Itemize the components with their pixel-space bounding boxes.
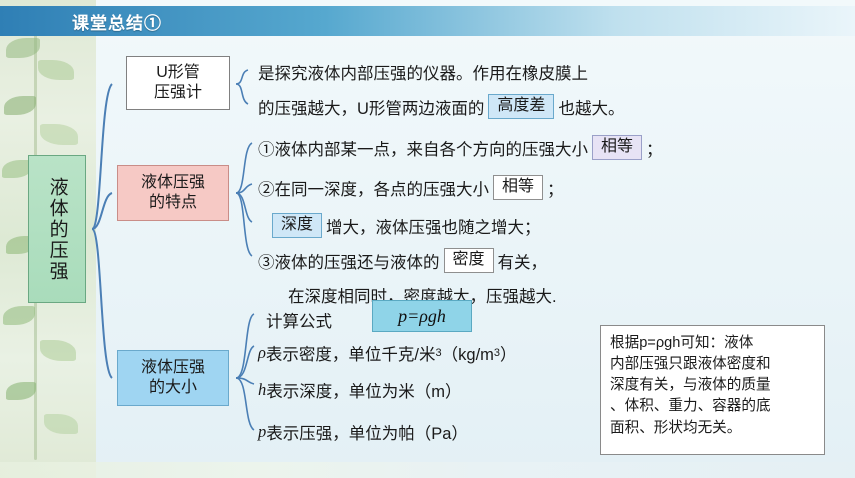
- leaf-decoration: [40, 340, 76, 361]
- page-title: 课堂总结①: [72, 9, 162, 34]
- p-symbol: p: [258, 422, 266, 442]
- slide-canvas: 课堂总结① 液体的压强 U形管 压强计 液体压强 的特点: [0, 0, 855, 478]
- u-tube-desc-line2: 的压强越大，U形管两边液面的 高度差 也越大。: [258, 94, 624, 119]
- node-root-label: 液体的压强: [45, 177, 68, 282]
- h-definition-text: 表示深度，单位为米（m）: [266, 378, 461, 402]
- highlight-equal-1: 相等: [592, 135, 642, 160]
- feature-row-2-post: ；: [547, 176, 564, 200]
- leaf-decoration: [3, 306, 35, 325]
- note-line-1: 根据p=ρgh可知：液体: [610, 333, 815, 354]
- node-size-line1: 液体压强: [141, 358, 205, 378]
- formula-box: p=ρgh: [372, 300, 472, 332]
- feature-row-1-post: ；: [646, 136, 663, 160]
- highlight-depth: 深度: [272, 213, 322, 238]
- formula-text: p=ρgh: [398, 306, 446, 327]
- h-symbol: h: [258, 380, 266, 400]
- rho-definition-row: ρ 表示密度，单位千克/米 3 （kg/m 3 ）: [258, 341, 517, 365]
- feature-row-4-pre: ③液体的压强还与液体的: [258, 249, 440, 273]
- u-tube-desc-line1: 是探究液体内部压强的仪器。作用在橡皮膜上: [258, 60, 588, 84]
- node-liquid-pressure-magnitude: 液体压强 的大小: [117, 350, 229, 406]
- feature-row-2-pre: ②在同一深度，各点的压强大小: [258, 176, 489, 200]
- node-liquid-pressure-features: 液体压强 的特点: [117, 165, 229, 221]
- rho-symbol: ρ: [258, 343, 266, 363]
- feature-row-3-post: 增大，液体压强也随之增大；: [326, 214, 541, 238]
- node-u-tube-line2: 压强计: [154, 83, 202, 103]
- highlight-density: 密度: [444, 248, 494, 273]
- feature-row-4-post: 有关，: [498, 249, 548, 273]
- node-u-tube-line1: U形管: [154, 63, 202, 83]
- node-size-line2: 的大小: [141, 378, 205, 398]
- node-feature-line2: 的特点: [141, 193, 205, 213]
- node-u-tube-gauge: U形管 压强计: [126, 56, 230, 110]
- u-tube-desc-line2-pre: 的压强越大，U形管两边液面的: [258, 95, 484, 119]
- feature-row-1-pre: ①液体内部某一点，来自各个方向的压强大小: [258, 136, 588, 160]
- node-feature-line1: 液体压强: [141, 173, 205, 193]
- bottom-band-decoration: [0, 462, 855, 478]
- feature-row-4: ③液体的压强还与液体的 密度 有关，: [258, 248, 547, 273]
- leaf-decoration: [38, 60, 74, 80]
- p-definition-row: p 表示压强，单位为帕（Pa）: [258, 420, 468, 444]
- rho-definition-text: 表示密度，单位千克/米: [266, 341, 436, 365]
- leaf-decoration: [6, 382, 36, 400]
- p-definition-text: 表示压强，单位为帕（Pa）: [266, 420, 468, 444]
- rho-unit-si-close: ）: [500, 341, 517, 365]
- rho-unit-si-open: （kg/m: [442, 341, 494, 365]
- note-line-3: 深度有关，与液体的质量: [610, 375, 815, 396]
- leaf-decoration: [4, 96, 36, 115]
- note-line-5: 面积、形状均无关。: [610, 418, 815, 439]
- u-tube-desc-line1-text: 是探究液体内部压强的仪器。作用在橡皮膜上: [258, 60, 588, 84]
- formula-label-text: 计算公式: [266, 308, 332, 332]
- feature-row-2: ②在同一深度，各点的压强大小 相等 ；: [258, 175, 564, 200]
- note-line-4: 、体积、重力、容器的底: [610, 396, 815, 417]
- formula-label: 计算公式: [266, 308, 332, 332]
- node-root: 液体的压强: [28, 155, 86, 303]
- note-line-2: 内部压强只跟液体密度和: [610, 354, 815, 375]
- h-definition-row: h 表示深度，单位为米（m）: [258, 378, 462, 402]
- leaf-decoration: [40, 124, 78, 145]
- conclusion-note-box: 根据p=ρgh可知：液体 内部压强只跟液体密度和 深度有关，与液体的质量 、体积…: [600, 325, 825, 455]
- u-tube-desc-line2-post: 也越大。: [558, 95, 624, 119]
- leaf-decoration: [44, 414, 78, 434]
- feature-row-3: 深度 增大，液体压强也随之增大；: [272, 213, 541, 238]
- highlight-equal-2: 相等: [493, 175, 543, 200]
- highlight-height-difference: 高度差: [488, 94, 554, 119]
- feature-row-1: ①液体内部某一点，来自各个方向的压强大小 相等 ；: [258, 135, 663, 160]
